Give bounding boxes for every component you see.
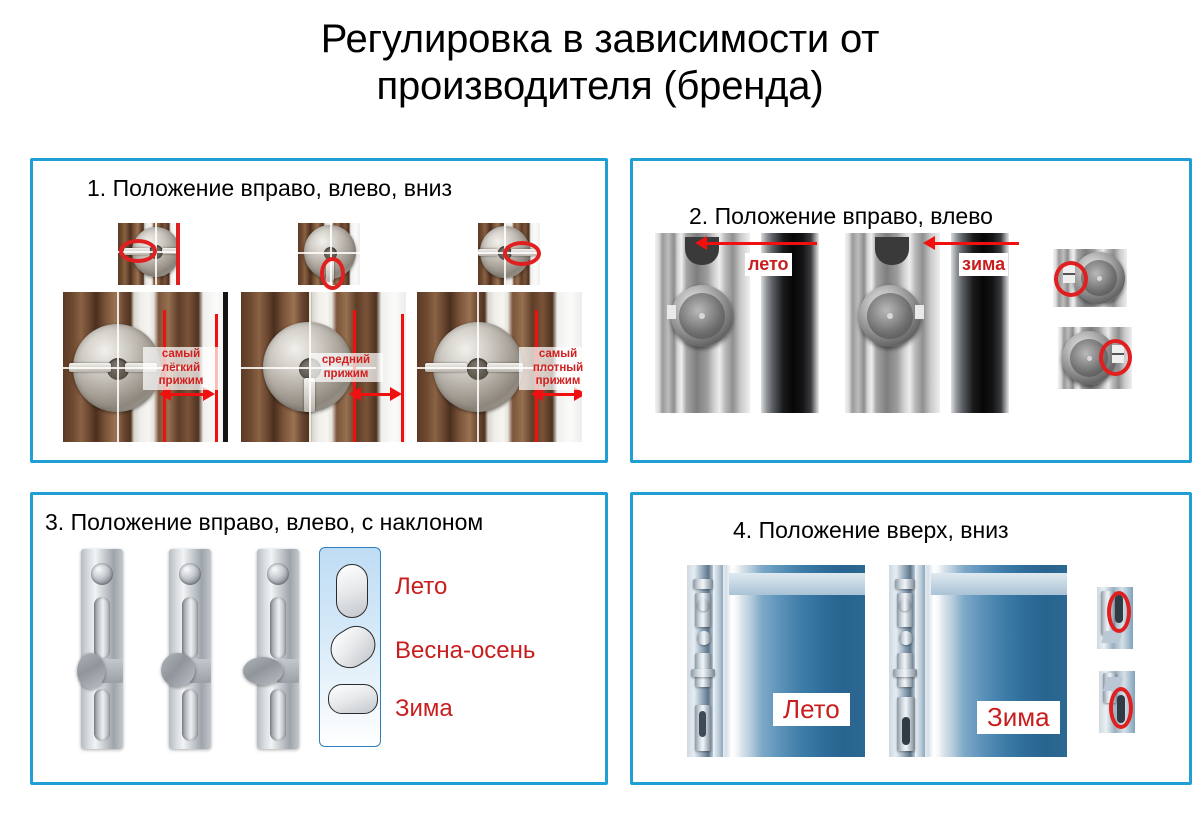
panel-2-label-summer: лето: [745, 253, 792, 276]
highlight-ellipse-roller-winter: [1099, 339, 1132, 376]
panel-4-title: 4. Положение вверх, вниз: [733, 517, 1009, 544]
panel-position-right-left-tilt: 3. Положение вправо, влево, с наклоном Л…: [30, 492, 608, 785]
panel-1-label-medium: средний прижим: [309, 353, 383, 382]
arrow-winter: [935, 242, 1019, 245]
panel-position-up-down: 4. Положение вверх, вниз Лето Зима: [630, 492, 1192, 785]
legend-oval-spring-autumn: [323, 619, 382, 676]
panel-1-label-lightest: самый лёгкий прижим: [143, 347, 219, 390]
panel-1-title: 1. Положение вправо, влево, вниз: [87, 175, 452, 202]
label-line: плотный: [533, 362, 583, 374]
panel-2-label-winter: зима: [959, 253, 1008, 276]
label-line: прижим: [159, 375, 204, 387]
label-line: прижим: [324, 368, 369, 380]
legend-label-winter: Зима: [395, 695, 453, 723]
label-line: самый: [162, 348, 200, 360]
label-line: средний: [322, 354, 370, 366]
highlight-ellipse-roller-summer: [1054, 261, 1088, 297]
label-line: лёгкий: [162, 362, 200, 374]
photo-window-summer: [687, 565, 865, 757]
highlight-ellipse-pin-up: [1107, 591, 1131, 633]
highlight-ellipse-cam-middle: [320, 257, 345, 290]
plate-winter: [257, 549, 299, 749]
highlight-ellipse-cam-left: [119, 239, 157, 263]
highlight-ellipse-cam-right: [503, 241, 541, 266]
plate-summer: [81, 549, 123, 749]
label-line: самый: [539, 348, 577, 360]
legend-oval-winter: [328, 684, 378, 714]
panel-3-title: 3. Положение вправо, влево, с наклоном: [45, 509, 483, 536]
panel-1-label-tightest: самый плотный прижим: [519, 347, 597, 390]
panel-position-right-left-down: 1. Положение вправо, влево, вниз: [30, 158, 608, 463]
highlight-ellipse-pin-down: [1109, 687, 1133, 729]
label-line: прижим: [536, 375, 581, 387]
panel-4-label-summer: Лето: [773, 693, 850, 726]
arrow-head-winter: [923, 236, 935, 250]
photo-roller-winter: [845, 233, 940, 413]
legend-label-spring-autumn: Весна-осень: [395, 637, 535, 665]
arrow-head-summer: [695, 236, 707, 250]
legend-label-summer: Лето: [395, 573, 447, 601]
panel-2-title: 2. Положение вправо, влево: [689, 203, 993, 230]
plate-spring-autumn: [169, 549, 211, 749]
page-title: Регулировка в зависимости от производите…: [0, 16, 1200, 110]
page-title-line-2: производителя (бренда): [0, 63, 1200, 110]
page-title-line-1: Регулировка в зависимости от: [0, 16, 1200, 63]
arrow-summer: [707, 242, 817, 245]
panel-position-right-left: 2. Положение вправо, влево лето зима: [630, 158, 1192, 463]
panel-4-label-winter: Зима: [977, 701, 1060, 734]
legend-box-cam-orientations: [319, 547, 381, 747]
photo-roller-summer: [655, 233, 750, 413]
legend-oval-summer: [336, 564, 368, 618]
